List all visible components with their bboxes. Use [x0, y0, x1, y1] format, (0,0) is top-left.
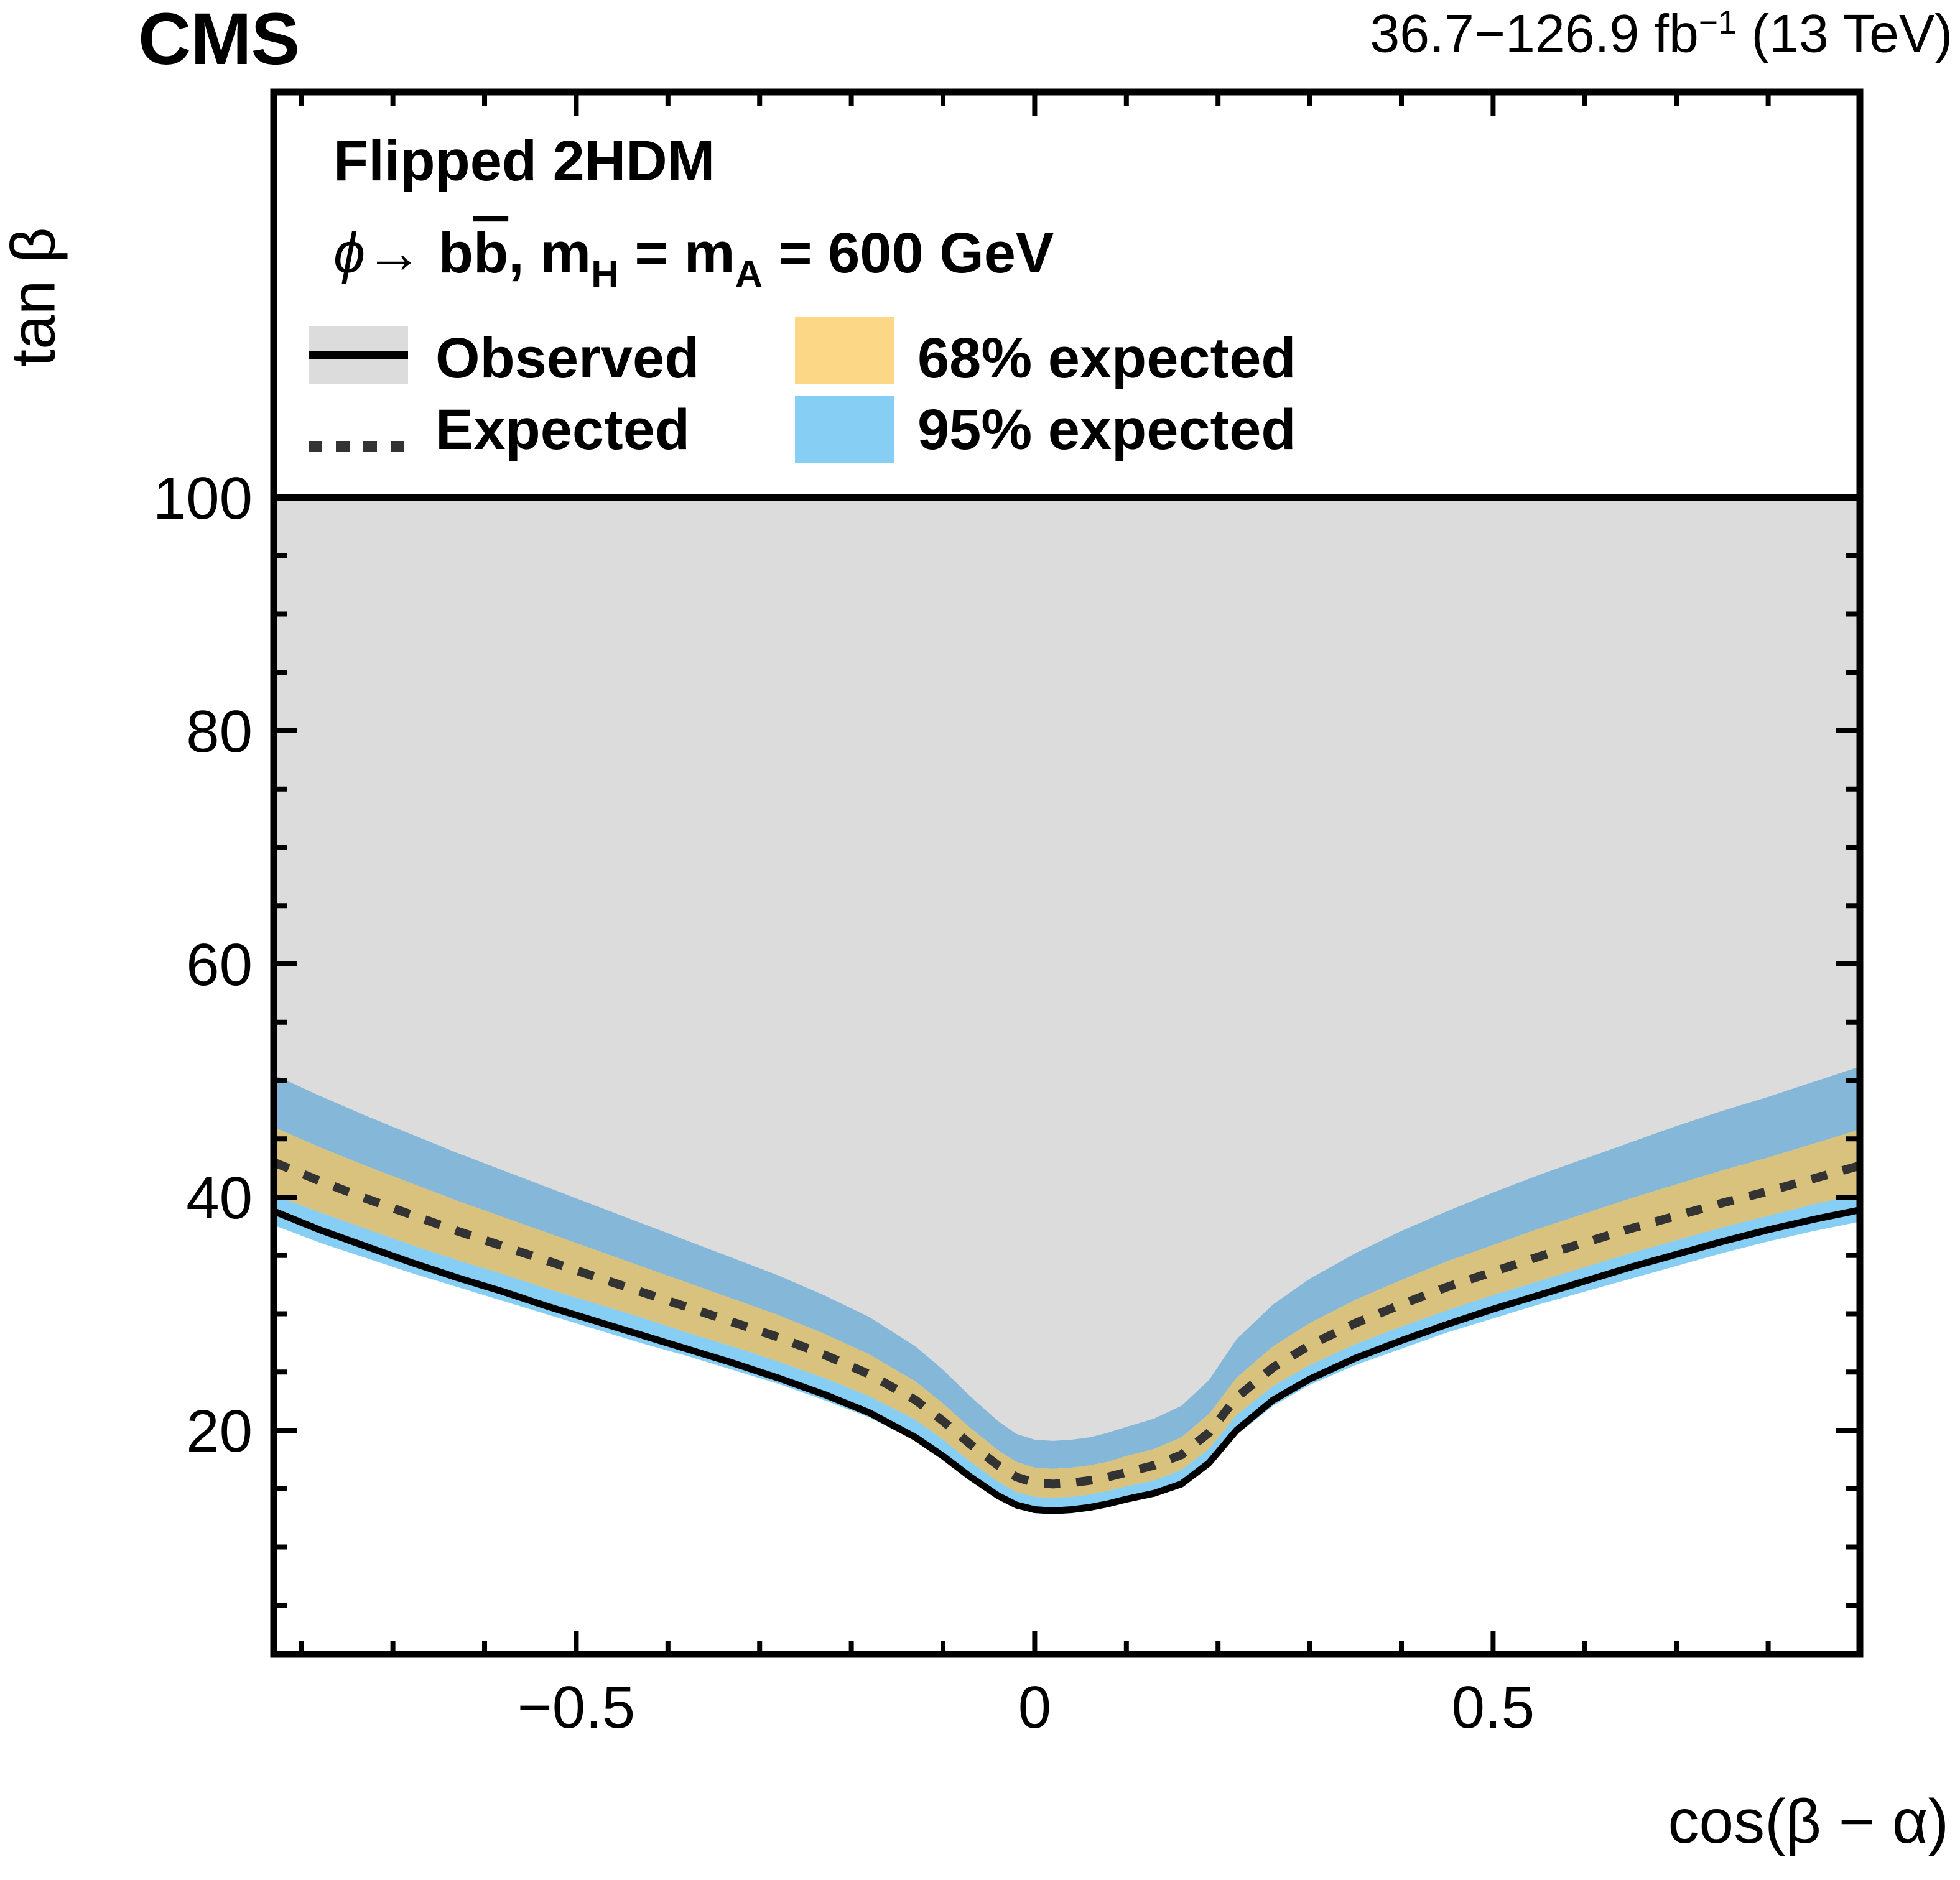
phi-symbol: ϕ: [333, 221, 365, 285]
arrow-symbol: →: [365, 221, 422, 285]
y-tick-label: 80: [186, 698, 253, 765]
subscript-A: A: [735, 253, 763, 296]
legend-label-68: 68% expected: [917, 326, 1296, 390]
y-tick-label: 40: [186, 1165, 253, 1231]
plot-canvas: −0.500.520406080100 Flipped 2HDMϕ→ bb, m…: [0, 0, 1960, 1880]
y-tick-label: 20: [186, 1398, 253, 1465]
confidence-bands: [274, 498, 1860, 1654]
x-tick-label: 0.5: [1452, 1674, 1535, 1741]
legend-model-title: Flipped 2HDM: [333, 129, 715, 193]
y-tick-label: 60: [186, 932, 253, 998]
anti-b-quark: b: [473, 221, 508, 285]
figure-root: CMS 36.7−126.9 fb−1 (13 TeV) tan β cos(β…: [0, 0, 1960, 1880]
x-tick-label: −0.5: [518, 1674, 636, 1741]
legend-label-95: 95% expected: [917, 398, 1296, 461]
legend-swatch-95: [795, 396, 894, 463]
y-tick-label: 100: [153, 465, 253, 532]
b-quark: b: [422, 221, 473, 285]
mass-prefix: , m: [508, 221, 591, 285]
legend-swatch-68: [795, 317, 894, 384]
legend-label-expected: Expected: [435, 398, 690, 461]
x-tick-label: 0: [1018, 1674, 1051, 1741]
subscript-H: H: [591, 253, 619, 296]
legend-process-line: ϕ→ bb, mH = mA = 600 GeV: [333, 221, 1054, 296]
mass-equals-1: = m: [619, 221, 735, 285]
mass-equals-2: = 600 GeV: [763, 221, 1054, 285]
legend-label-observed: Observed: [435, 326, 699, 390]
legend-box: Flipped 2HDMϕ→ bb, mH = mA = 600 GeVObse…: [309, 129, 1296, 463]
